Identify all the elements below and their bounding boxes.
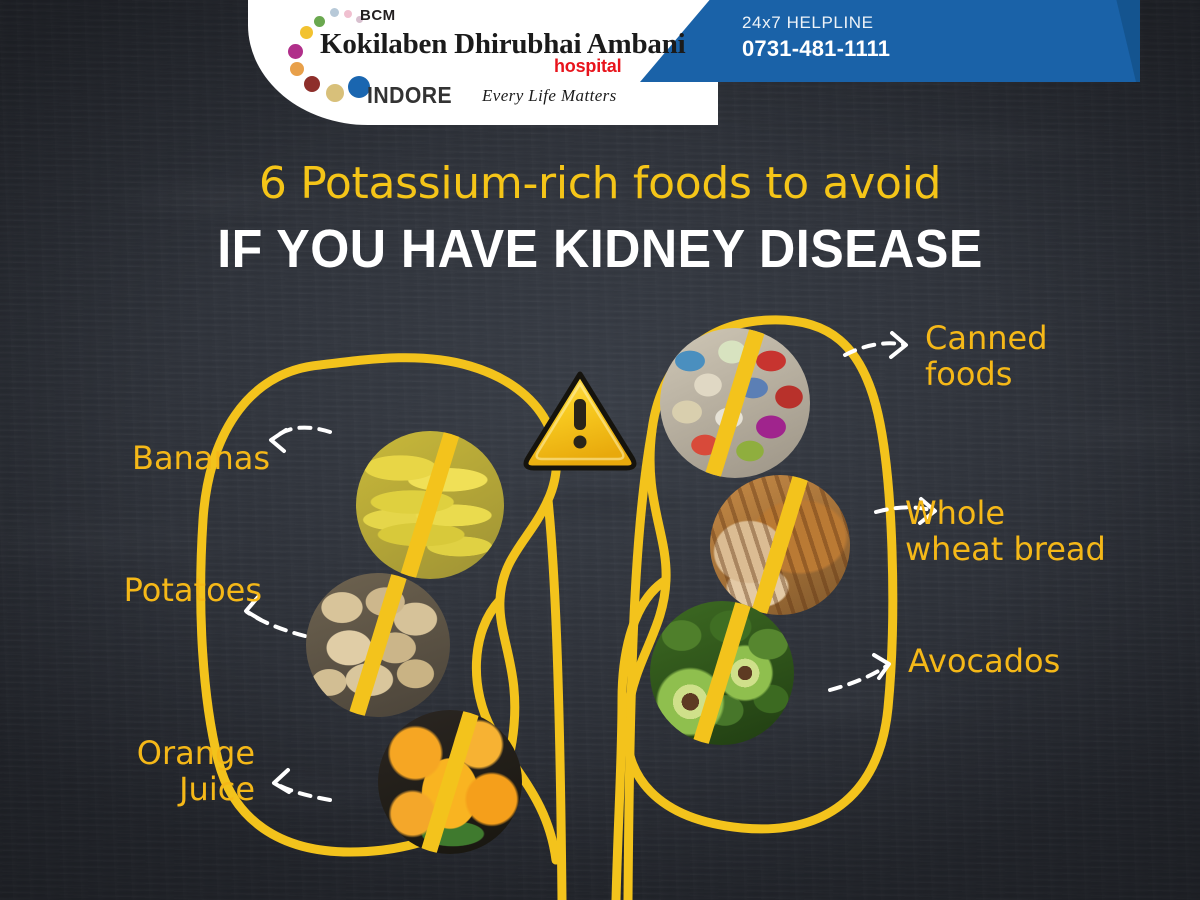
logo-hospital-name: Kokilaben Dhirubhai Ambani	[320, 28, 686, 61]
food-photo-bananas	[356, 431, 504, 579]
food-photo-orange-juice	[378, 710, 522, 854]
helpline-label: 24x7 HELPLINE	[742, 12, 1062, 34]
food-photo-whole-wheat-bread	[710, 475, 850, 615]
helpline-number[interactable]: 0731-481-1111	[742, 36, 1062, 62]
hospital-logo[interactable]: BCM Kokilaben Dhirubhai Ambani hospital …	[282, 4, 682, 122]
food-label-whole-wheat-bread: Whole wheat bread	[905, 495, 1195, 567]
logo-tagline: Every Life Matters	[482, 86, 617, 106]
infographic-canvas: Bananas Potatoes Orange Juice Canned foo…	[0, 0, 1200, 900]
page-title-line1: 6 Potassium-rich foods to avoid	[0, 158, 1200, 209]
logo-bcm-text: BCM	[360, 7, 396, 24]
food-photo-canned-foods	[660, 328, 810, 478]
logo-city: INDORE	[367, 82, 452, 109]
arrowhead-orange-juice	[274, 770, 289, 792]
food-photo-potatoes	[306, 573, 450, 717]
logo-hospital-word: hospital	[554, 56, 621, 77]
arrowhead-bananas	[271, 430, 286, 451]
food-label-bananas: Bananas	[20, 440, 270, 476]
food-label-orange-juice: Orange Juice	[20, 735, 255, 807]
food-label-avocados: Avocados	[908, 643, 1188, 679]
food-photo-avocados	[650, 601, 794, 745]
header: 24x7 HELPLINE 0731-481-1111 BCM Kokilabe…	[0, 0, 1200, 135]
helpline-block: 24x7 HELPLINE 0731-481-1111	[742, 12, 1062, 62]
food-label-canned-foods: Canned foods	[925, 320, 1190, 392]
page-title-line2: IF YOU HAVE KIDNEY DISEASE	[42, 218, 1158, 280]
arrow-orange-juice	[275, 783, 330, 800]
food-label-potatoes: Potatoes	[20, 572, 262, 608]
